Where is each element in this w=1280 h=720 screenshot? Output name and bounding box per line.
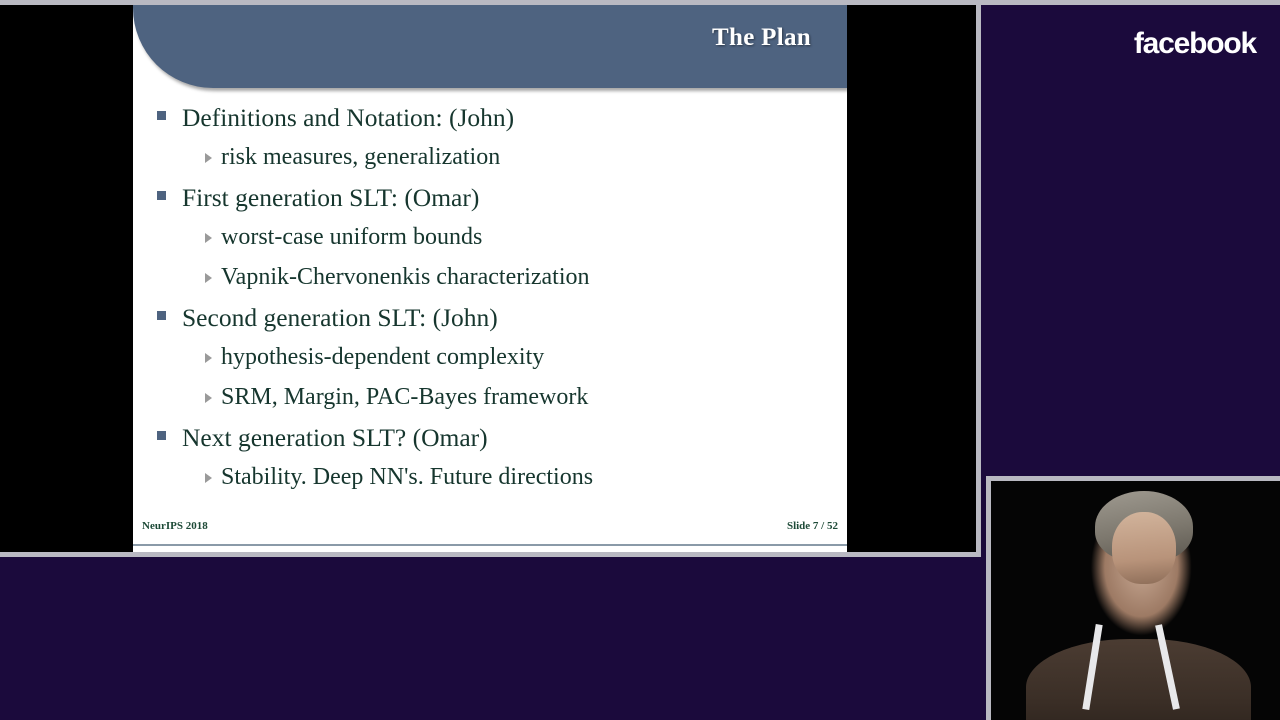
bullet-text: Stability. Deep NN's. Future directions <box>221 458 593 497</box>
bullet-level2: Vapnik-Chervonenkis characterization <box>205 258 847 297</box>
speaker-video-tile[interactable] <box>986 476 1280 720</box>
speaker-torso <box>1026 639 1251 720</box>
footer-conference-label: NeurIPS 2018 <box>142 520 208 532</box>
bullet-text: Second generation SLT: (John) <box>182 298 498 337</box>
bullet-text: hypothesis-dependent complexity <box>221 338 544 377</box>
bullet-text: First generation SLT: (Omar) <box>182 178 479 217</box>
triangle-bullet-icon <box>205 233 212 243</box>
slide-footer: NeurIPS 2018 Slide 7 / 52 <box>133 520 847 546</box>
square-bullet-icon <box>157 191 166 200</box>
bullet-level2: Stability. Deep NN's. Future directions <box>205 458 847 497</box>
bullet-level1: First generation SLT: (Omar) <box>157 178 847 217</box>
bullet-text: risk measures, generalization <box>221 138 500 177</box>
triangle-bullet-icon <box>205 353 212 363</box>
bottom-purple-band <box>0 562 981 720</box>
triangle-bullet-icon <box>205 393 212 403</box>
bullet-level2: hypothesis-dependent complexity <box>205 338 847 377</box>
square-bullet-icon <box>157 311 166 320</box>
bullet-level1: Second generation SLT: (John) <box>157 298 847 337</box>
slide-bullet-list: Definitions and Notation: (John) risk me… <box>133 98 847 513</box>
bullet-level2: worst-case uniform bounds <box>205 218 847 257</box>
facebook-logo: facebook <box>1134 27 1256 61</box>
screen-root: The Plan Definitions and Notation: (John… <box>0 0 1280 720</box>
footer-slide-number: Slide 7 / 52 <box>787 520 838 532</box>
triangle-bullet-icon <box>205 473 212 483</box>
slide-title: The Plan <box>712 24 811 52</box>
speaker-face <box>1112 512 1176 584</box>
square-bullet-icon <box>157 431 166 440</box>
slide-header-band: The Plan <box>133 5 847 88</box>
bullet-level1: Next generation SLT? (Omar) <box>157 418 847 457</box>
bullet-text: SRM, Margin, PAC-Bayes framework <box>221 378 588 417</box>
slide-viewer-panel: The Plan Definitions and Notation: (John… <box>0 5 981 557</box>
bullet-level2: SRM, Margin, PAC-Bayes framework <box>205 378 847 417</box>
brand-area: facebook <box>986 5 1280 471</box>
square-bullet-icon <box>157 111 166 120</box>
bullet-text: Definitions and Notation: (John) <box>182 98 514 137</box>
bullet-level2: risk measures, generalization <box>205 138 847 177</box>
bullet-level1: Definitions and Notation: (John) <box>157 98 847 137</box>
bullet-text: Next generation SLT? (Omar) <box>182 418 488 457</box>
bullet-text: Vapnik-Chervonenkis characterization <box>221 258 590 297</box>
bullet-text: worst-case uniform bounds <box>221 218 482 257</box>
triangle-bullet-icon <box>205 273 212 283</box>
triangle-bullet-icon <box>205 153 212 163</box>
presentation-slide: The Plan Definitions and Notation: (John… <box>133 5 847 552</box>
speaker-video-frame <box>991 481 1280 720</box>
